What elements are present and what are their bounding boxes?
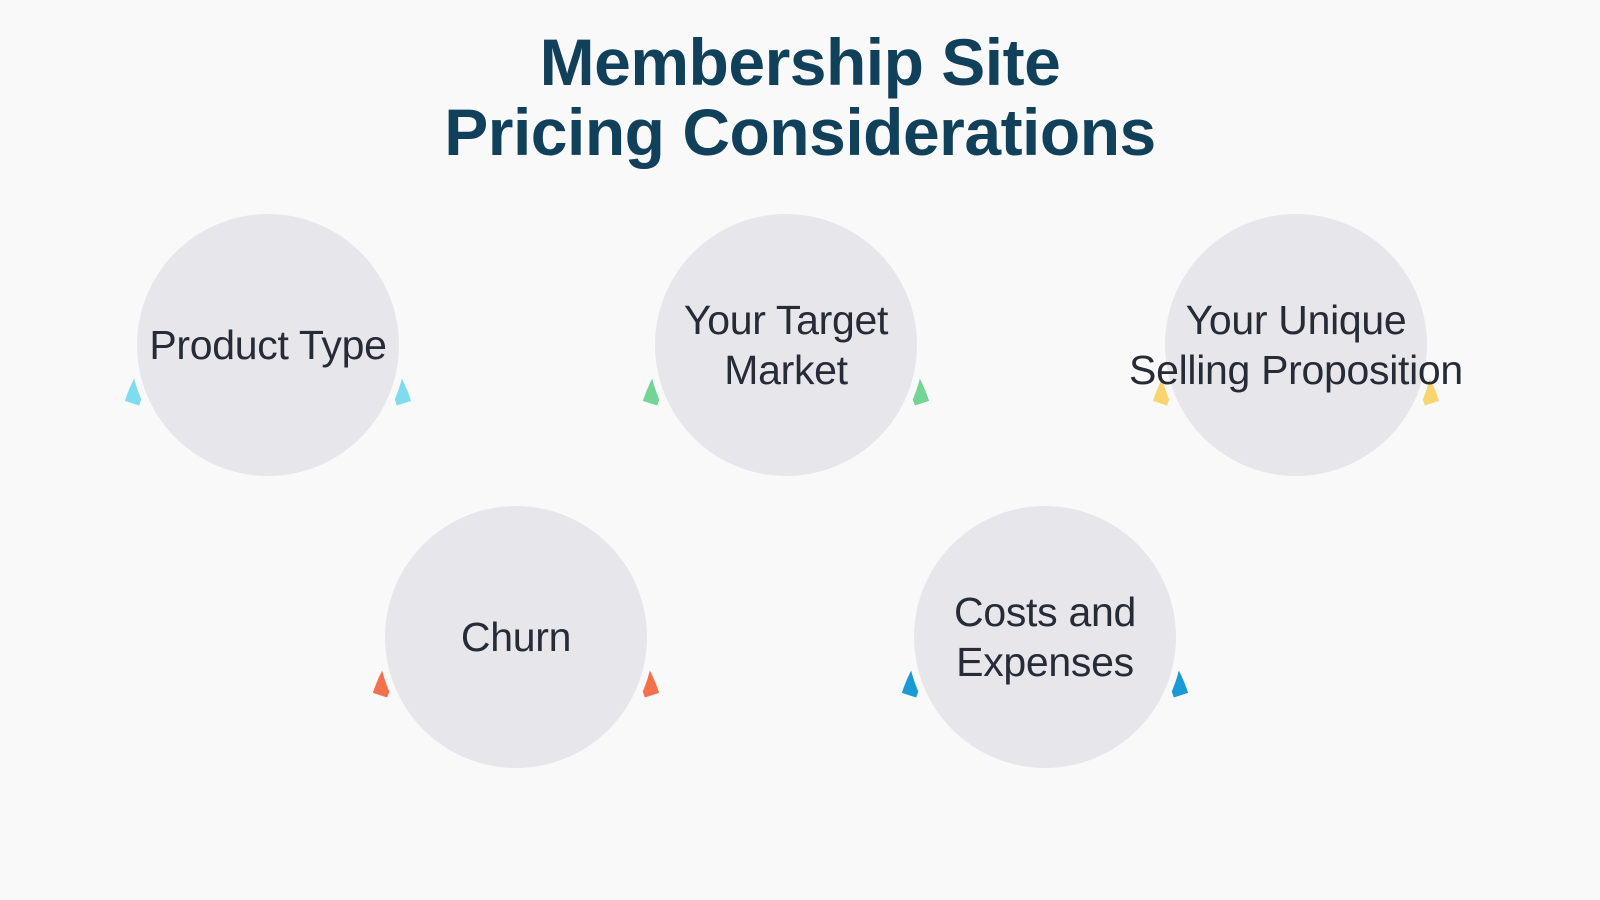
page-title-line-1: Membership Site [0,28,1600,98]
consideration-label-unique-selling-proposition: Your Unique Selling Proposition [946,295,1600,395]
infographic-canvas: Membership Site Pricing Considerations P… [0,0,1600,900]
consideration-label-product-type: Product Type [0,320,548,370]
page-title-line-2: Pricing Considerations [0,98,1600,168]
page-title: Membership Site Pricing Considerations [0,28,1600,168]
consideration-label-costs-and-expenses: Costs and Expenses [765,587,1325,687]
consideration-label-churn: Churn [236,612,796,662]
